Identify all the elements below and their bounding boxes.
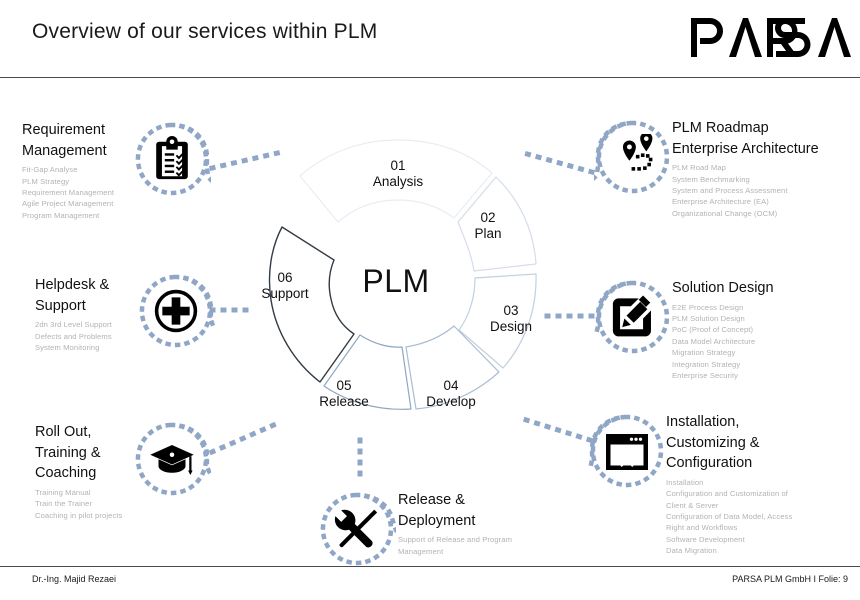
clipboard-checklist-icon <box>149 136 195 182</box>
service-installation-title: Installation, Customizing & Configuratio… <box>666 412 860 474</box>
wheel-label-04: 04 Develop <box>408 378 494 410</box>
bullet: Train the Trainer <box>35 498 157 509</box>
graduation-cap-icon <box>148 436 196 484</box>
wheel-label-01: 01 Analysis <box>358 158 438 190</box>
page-title: Overview of our services within PLM <box>32 20 377 44</box>
slide-header: Overview of our services within PLM <box>0 0 860 78</box>
bullet: Support of Release and Program <box>398 534 558 545</box>
bullet: Enterprise Security <box>672 370 860 381</box>
title-line-1: Roll Out, <box>35 424 91 440</box>
service-release-deployment-title: Release & Deployment <box>398 490 558 531</box>
title-line-2: Enterprise Architecture <box>672 141 819 157</box>
bullet: Management <box>398 546 558 557</box>
bullet: PLM Road Map <box>672 162 860 173</box>
bullet: Configuration of Data Model, Access <box>666 511 860 522</box>
wheel-label-02: 02 Plan <box>453 210 523 242</box>
map-route-pins-icon-wrap <box>594 118 672 196</box>
footer-divider <box>0 566 860 567</box>
title-line-2: Customizing & <box>666 435 759 451</box>
bullet: Right and Workflows <box>666 522 860 533</box>
title-line-1: Release & <box>398 492 465 508</box>
wheel-label-06-text: Support <box>242 286 328 302</box>
service-installation-customizing-configuration: Installation, Customizing & Configuratio… <box>666 412 860 556</box>
plus-cross-circle-icon-wrap <box>137 272 215 350</box>
wheel-label-03-text: Design <box>473 319 549 335</box>
bullet: Integration Strategy <box>672 359 860 370</box>
service-installation-bullets: Installation Configuration and Customiza… <box>666 477 860 557</box>
service-plm-roadmap-enterprise-architecture: PLM Roadmap Enterprise Architecture PLM … <box>672 118 860 219</box>
wrench-screwdriver-icon-wrap <box>318 490 396 568</box>
title-line-1: Requirement <box>22 122 105 138</box>
bullet: Defects and Problems <box>35 331 153 342</box>
title-line-2: Training & <box>35 445 101 461</box>
wheel-label-04-text: Develop <box>408 394 494 410</box>
bullet: System and Process Assessment <box>672 185 860 196</box>
bullet: Coaching in pilot projects <box>35 510 157 521</box>
service-solution-design-title: Solution Design <box>672 278 860 299</box>
title-line-3: Configuration <box>666 455 752 471</box>
parsa-logo <box>687 14 852 60</box>
bullet: PLM Solution Design <box>672 313 860 324</box>
service-helpdesk-support-bullets: 2dn 3rd Level Support Defects and Proble… <box>35 319 153 353</box>
wheel-label-05: 05 Release <box>301 378 387 410</box>
plm-cycle-diagram: PLM 01 Analysis 02 Plan 03 Design 04 Dev… <box>228 128 568 438</box>
service-release-deployment-bullets: Support of Release and Program Managemen… <box>398 534 558 557</box>
title-line-2: Deployment <box>398 513 475 529</box>
title-line-2: Support <box>35 298 86 314</box>
service-helpdesk-support: Helpdesk & Support 2dn 3rd Level Support… <box>35 275 153 353</box>
service-helpdesk-support-title: Helpdesk & Support <box>35 275 153 316</box>
pencil-edit-square-icon <box>610 294 656 340</box>
service-solution-design-bullets: E2E Process Design PLM Solution Design P… <box>672 302 860 382</box>
graduation-cap-icon-wrap <box>133 420 211 498</box>
bullet: Configuration and Customization of <box>666 488 860 499</box>
service-solution-design: Solution Design E2E Process Design PLM S… <box>672 278 860 381</box>
title-line-1: PLM Roadmap <box>672 120 769 136</box>
wheel-segment-06 <box>269 227 354 382</box>
pencil-edit-square-icon-wrap <box>594 278 672 356</box>
service-release-deployment: Release & Deployment Support of Release … <box>398 490 558 557</box>
bullet: PoC (Proof of Concept) <box>672 324 860 335</box>
bullet: Program Management <box>22 210 152 221</box>
bullet: System Benchmarking <box>672 174 860 185</box>
wheel-label-01-num: 01 <box>358 158 438 174</box>
bullet: Organizational Change (OCM) <box>672 208 860 219</box>
wheel-label-01-text: Analysis <box>358 174 438 190</box>
bullet: Migration Strategy <box>672 347 860 358</box>
bullet: Data Migration <box>666 545 860 556</box>
service-plm-roadmap-title: PLM Roadmap Enterprise Architecture <box>672 118 860 159</box>
wheel-label-04-num: 04 <box>408 378 494 394</box>
footer-company-slide: PARSA PLM GmbH I Folie: 9 <box>732 574 848 584</box>
bullet: Installation <box>666 477 860 488</box>
code-window-icon <box>603 428 651 476</box>
title-line-1: Installation, <box>666 414 739 430</box>
title-line-3: Coaching <box>35 465 96 481</box>
title-line-1: Solution Design <box>672 280 774 296</box>
wheel-label-02-text: Plan <box>453 226 523 242</box>
bullet: Agile Project Management <box>22 198 152 209</box>
bullet: System Monitoring <box>35 342 153 353</box>
wheel-label-03: 03 Design <box>473 303 549 335</box>
service-plm-roadmap-bullets: PLM Road Map System Benchmarking System … <box>672 162 860 219</box>
header-divider <box>0 77 860 78</box>
bullet: 2dn 3rd Level Support <box>35 319 153 330</box>
title-line-1: Helpdesk & <box>35 277 109 293</box>
wheel-label-05-num: 05 <box>301 378 387 394</box>
wheel-label-05-text: Release <box>301 394 387 410</box>
code-window-icon-wrap <box>588 412 666 490</box>
bullet: Data Model Architecture <box>672 336 860 347</box>
bullet: E2E Process Design <box>672 302 860 313</box>
bullet: Client & Server <box>666 500 860 511</box>
clipboard-checklist-icon-wrap <box>133 120 211 198</box>
footer-author: Dr.-Ing. Majid Rezaei <box>32 574 116 584</box>
wheel-label-06-num: 06 <box>242 270 328 286</box>
title-line-2: Management <box>22 143 107 159</box>
wheel-label-03-num: 03 <box>473 303 549 319</box>
wheel-label-06: 06 Support <box>242 270 328 302</box>
plus-cross-circle-icon <box>153 288 199 334</box>
wrench-screwdriver-icon <box>334 506 380 552</box>
wheel-label-02-num: 02 <box>453 210 523 226</box>
slide: Overview of our services within PLM <box>0 0 860 600</box>
map-route-pins-icon <box>610 134 656 180</box>
bullet: Software Development <box>666 534 860 545</box>
bullet: Enterprise Architecture (EA) <box>672 196 860 207</box>
